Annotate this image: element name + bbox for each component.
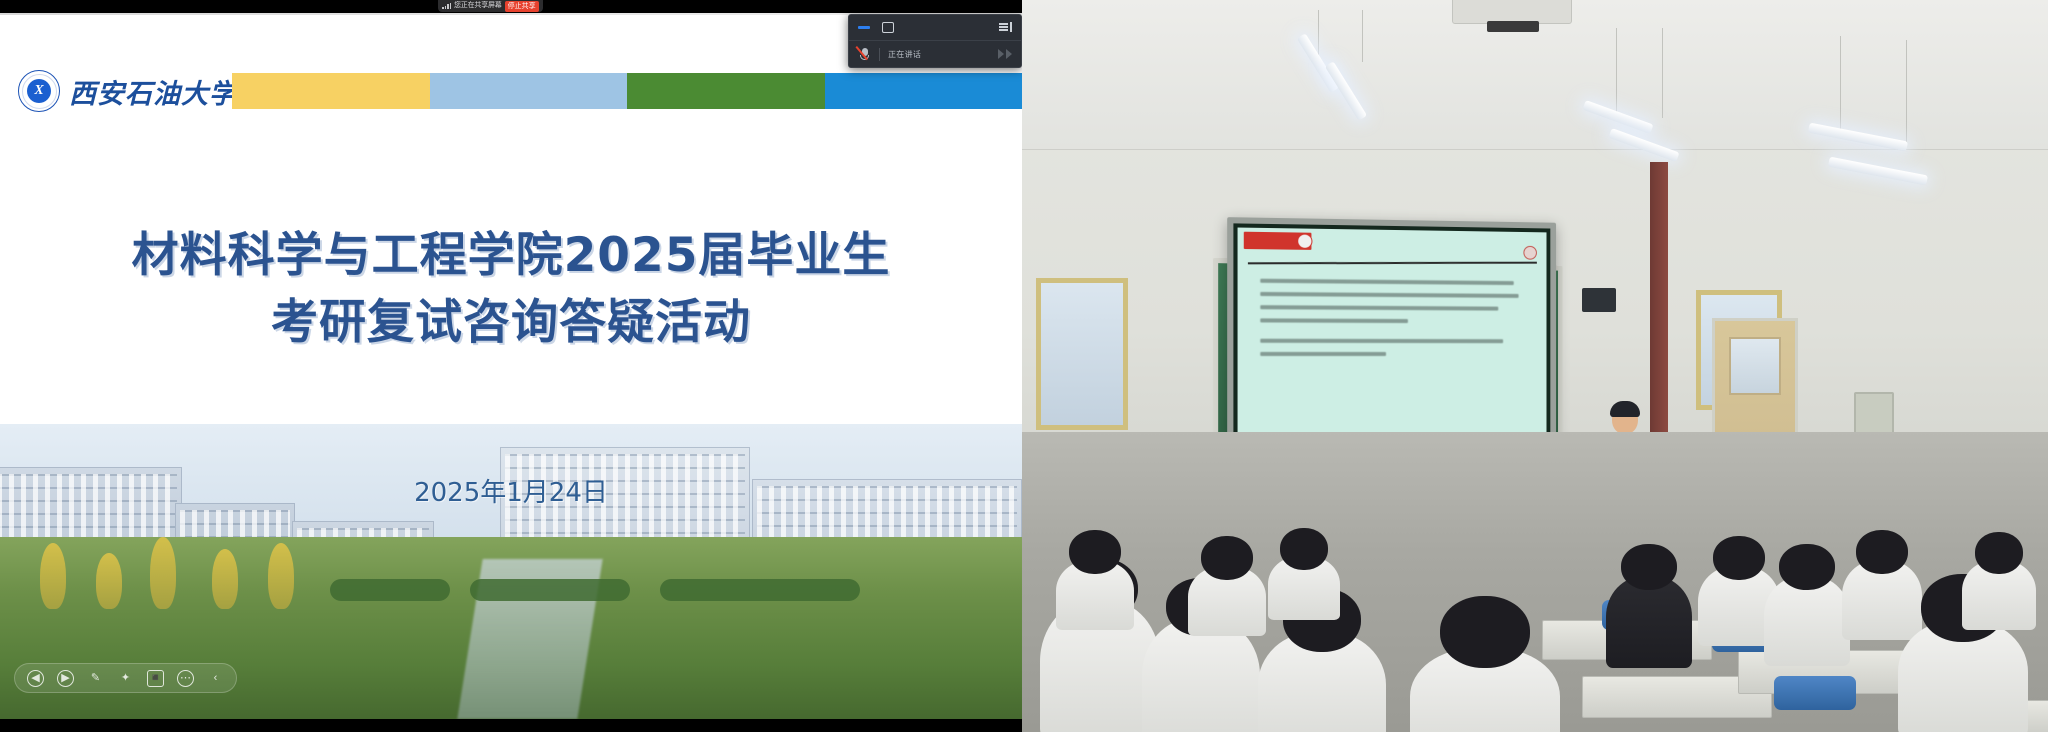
color-bar-segment-yellow [232, 73, 430, 109]
secondary-logo-icon [1523, 246, 1536, 260]
meeting-panel-status: 正在讲话 [849, 41, 1021, 67]
slide-header: X 西安石油大学 [0, 68, 1022, 114]
color-bar-segment-green [627, 73, 825, 109]
share-banner-text: 您正在共享屏幕 [454, 0, 502, 12]
student [1606, 576, 1692, 668]
divider [879, 48, 880, 61]
student [1268, 556, 1340, 620]
more-options-icon[interactable]: ⋯ [177, 670, 194, 687]
screen-share-banner: 您正在共享屏幕 停止共享 [438, 0, 543, 12]
shrub [660, 579, 860, 601]
projected-slide-header [1238, 228, 1547, 262]
list-icon[interactable] [906, 22, 918, 33]
university-emblem-icon [1297, 234, 1312, 249]
student [1962, 560, 2036, 630]
classroom-photo-panel [1022, 0, 2048, 732]
slide-title-line-2: 考研复试咨询答疑活动 [0, 290, 1022, 357]
shrub [470, 579, 630, 601]
student [1188, 566, 1266, 636]
presentation-slide: X 西安石油大学 材料科学与工程学院2025届毕业生 考研复试咨询答疑活动 [0, 13, 1022, 719]
presenter-video-icon[interactable]: ◾ [147, 670, 164, 687]
university-logo-block: X 西安石油大学 [0, 70, 232, 112]
next-slide-icon[interactable]: ▶ [57, 670, 74, 687]
stop-share-button[interactable]: 停止共享 [505, 1, 539, 12]
student-chair [1774, 676, 1856, 710]
window-icon[interactable] [882, 22, 894, 33]
pen-annotation-icon[interactable]: ✎ [87, 670, 104, 687]
tree [96, 553, 122, 609]
signal-bars-icon [442, 3, 451, 9]
minimize-icon[interactable] [858, 26, 870, 29]
door-window [1729, 337, 1781, 395]
tree [150, 537, 176, 609]
microphone-muted-icon[interactable] [858, 47, 871, 62]
color-bar-segment-light-blue [430, 73, 628, 109]
slide-date: 2025年1月24日 [414, 478, 608, 508]
meeting-control-panel[interactable]: 正在讲话 [848, 14, 1022, 68]
tree [40, 543, 66, 609]
meeting-status-text: 正在讲话 [888, 49, 921, 60]
slide-title-block: 材料科学与工程学院2025届毕业生 考研复试咨询答疑活动 [0, 223, 1022, 356]
shrub [330, 579, 450, 601]
ceiling-projector [1452, 0, 1572, 24]
student [1898, 620, 2028, 732]
university-seal-glyph: X [27, 79, 51, 103]
projected-slide-rule [1248, 262, 1537, 265]
university-seal-icon: X [18, 70, 60, 112]
university-name: 西安石油大学 [69, 72, 237, 111]
collapse-panel-icon[interactable] [999, 22, 1012, 33]
zoom-pointer-icon[interactable]: ✦ [117, 670, 134, 687]
window [1036, 278, 1128, 430]
screenshot-root: 您正在共享屏幕 停止共享 X 西安石油大学 [0, 0, 2048, 732]
tree [268, 543, 294, 609]
ppt-presenter-toolbar[interactable]: ◀ ▶ ✎ ✦ ◾ ⋯ ‹ [14, 663, 237, 693]
slide-title-line-1: 材料科学与工程学院2025届毕业生 [0, 223, 1022, 290]
student [1258, 632, 1386, 732]
meeting-panel-toolbar[interactable] [849, 15, 1021, 41]
student [1410, 648, 1560, 732]
color-bar-segment-blue [825, 73, 1023, 109]
tree [212, 549, 238, 609]
audio-waveform-icon [998, 49, 1012, 59]
decorative-color-bar [232, 73, 1022, 109]
student [1056, 560, 1134, 630]
student [1764, 576, 1850, 666]
wall-speaker [1582, 288, 1616, 312]
previous-slide-icon[interactable]: ◀ [27, 670, 44, 687]
collapse-arrow-icon[interactable]: ‹ [207, 670, 224, 687]
student [1842, 560, 1922, 640]
shared-screen-panel: 您正在共享屏幕 停止共享 X 西安石油大学 [0, 0, 1022, 732]
